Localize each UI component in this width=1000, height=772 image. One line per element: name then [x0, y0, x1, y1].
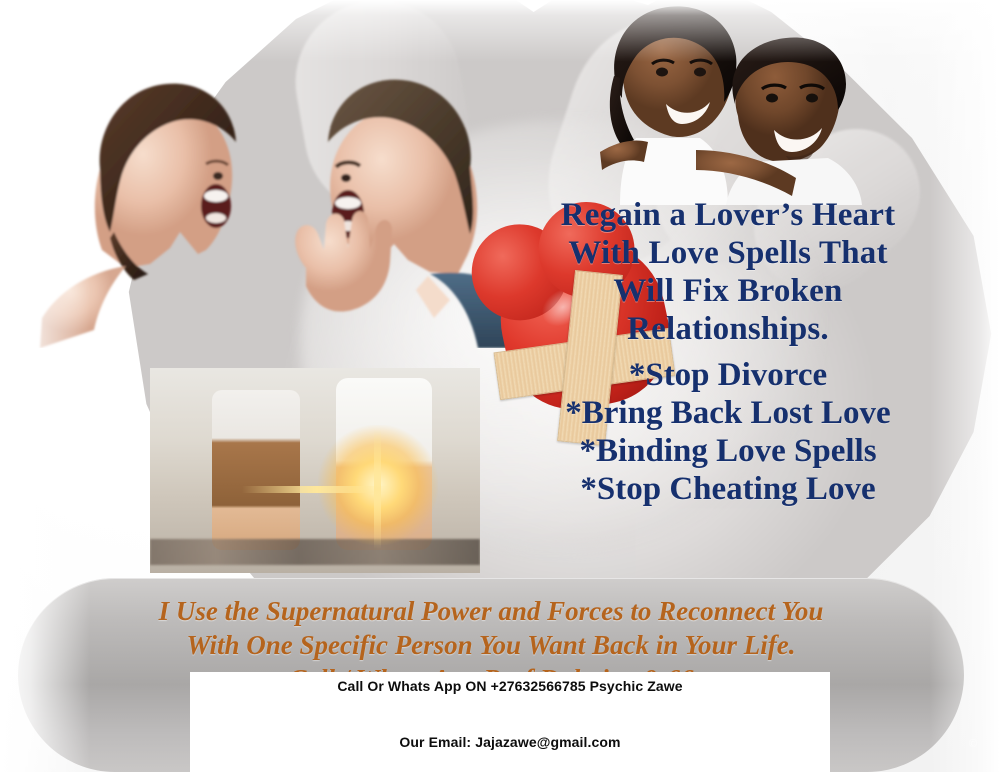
- service-item-binding-love-spells: *Binding Love Spells: [500, 432, 956, 470]
- arguing-couple-photo: [30, 18, 530, 348]
- headline-line-4: Relationships.: [500, 310, 956, 348]
- banner-line-1: I Use the Supernatural Power and Forces …: [18, 594, 964, 628]
- service-list: *Stop Divorce *Bring Back Lost Love *Bin…: [500, 356, 956, 508]
- sun-ray-vertical: [374, 429, 381, 549]
- headline-line-1: Regain a Lover’s Heart: [500, 196, 956, 234]
- headline-line-3: Will Fix Broken: [500, 272, 956, 310]
- headline-line-2: With Love Spells That: [500, 234, 956, 272]
- banner-line-2: With One Specific Person You Want Back i…: [18, 628, 964, 662]
- service-item-stop-divorce: *Stop Divorce: [500, 356, 956, 394]
- contact-overlay-box: Call Or Whats App ON +27632566785 Psychi…: [190, 672, 830, 772]
- service-item-bring-back-lost-love: *Bring Back Lost Love: [500, 394, 956, 432]
- beach-sunset-photo: [150, 368, 480, 573]
- service-item-stop-cheating-love: *Stop Cheating Love: [500, 470, 956, 508]
- contact-phone-line[interactable]: Call Or Whats App ON +27632566785 Psychi…: [190, 678, 830, 694]
- poster-canvas: Regain a Lover’s Heart With Love Spells …: [0, 0, 1000, 772]
- contact-email-line[interactable]: Our Email: Jajazawe@gmail.com: [190, 734, 830, 750]
- happy-couple-illustration: [600, 0, 900, 205]
- happy-couple-photo: [600, 0, 900, 205]
- beach-person-left: [212, 390, 300, 550]
- watermark: ©: [969, 738, 978, 750]
- arguing-couple-illustration: [30, 18, 530, 348]
- headline-block: Regain a Lover’s Heart With Love Spells …: [500, 196, 956, 348]
- sun-ray-horizontal: [242, 486, 392, 493]
